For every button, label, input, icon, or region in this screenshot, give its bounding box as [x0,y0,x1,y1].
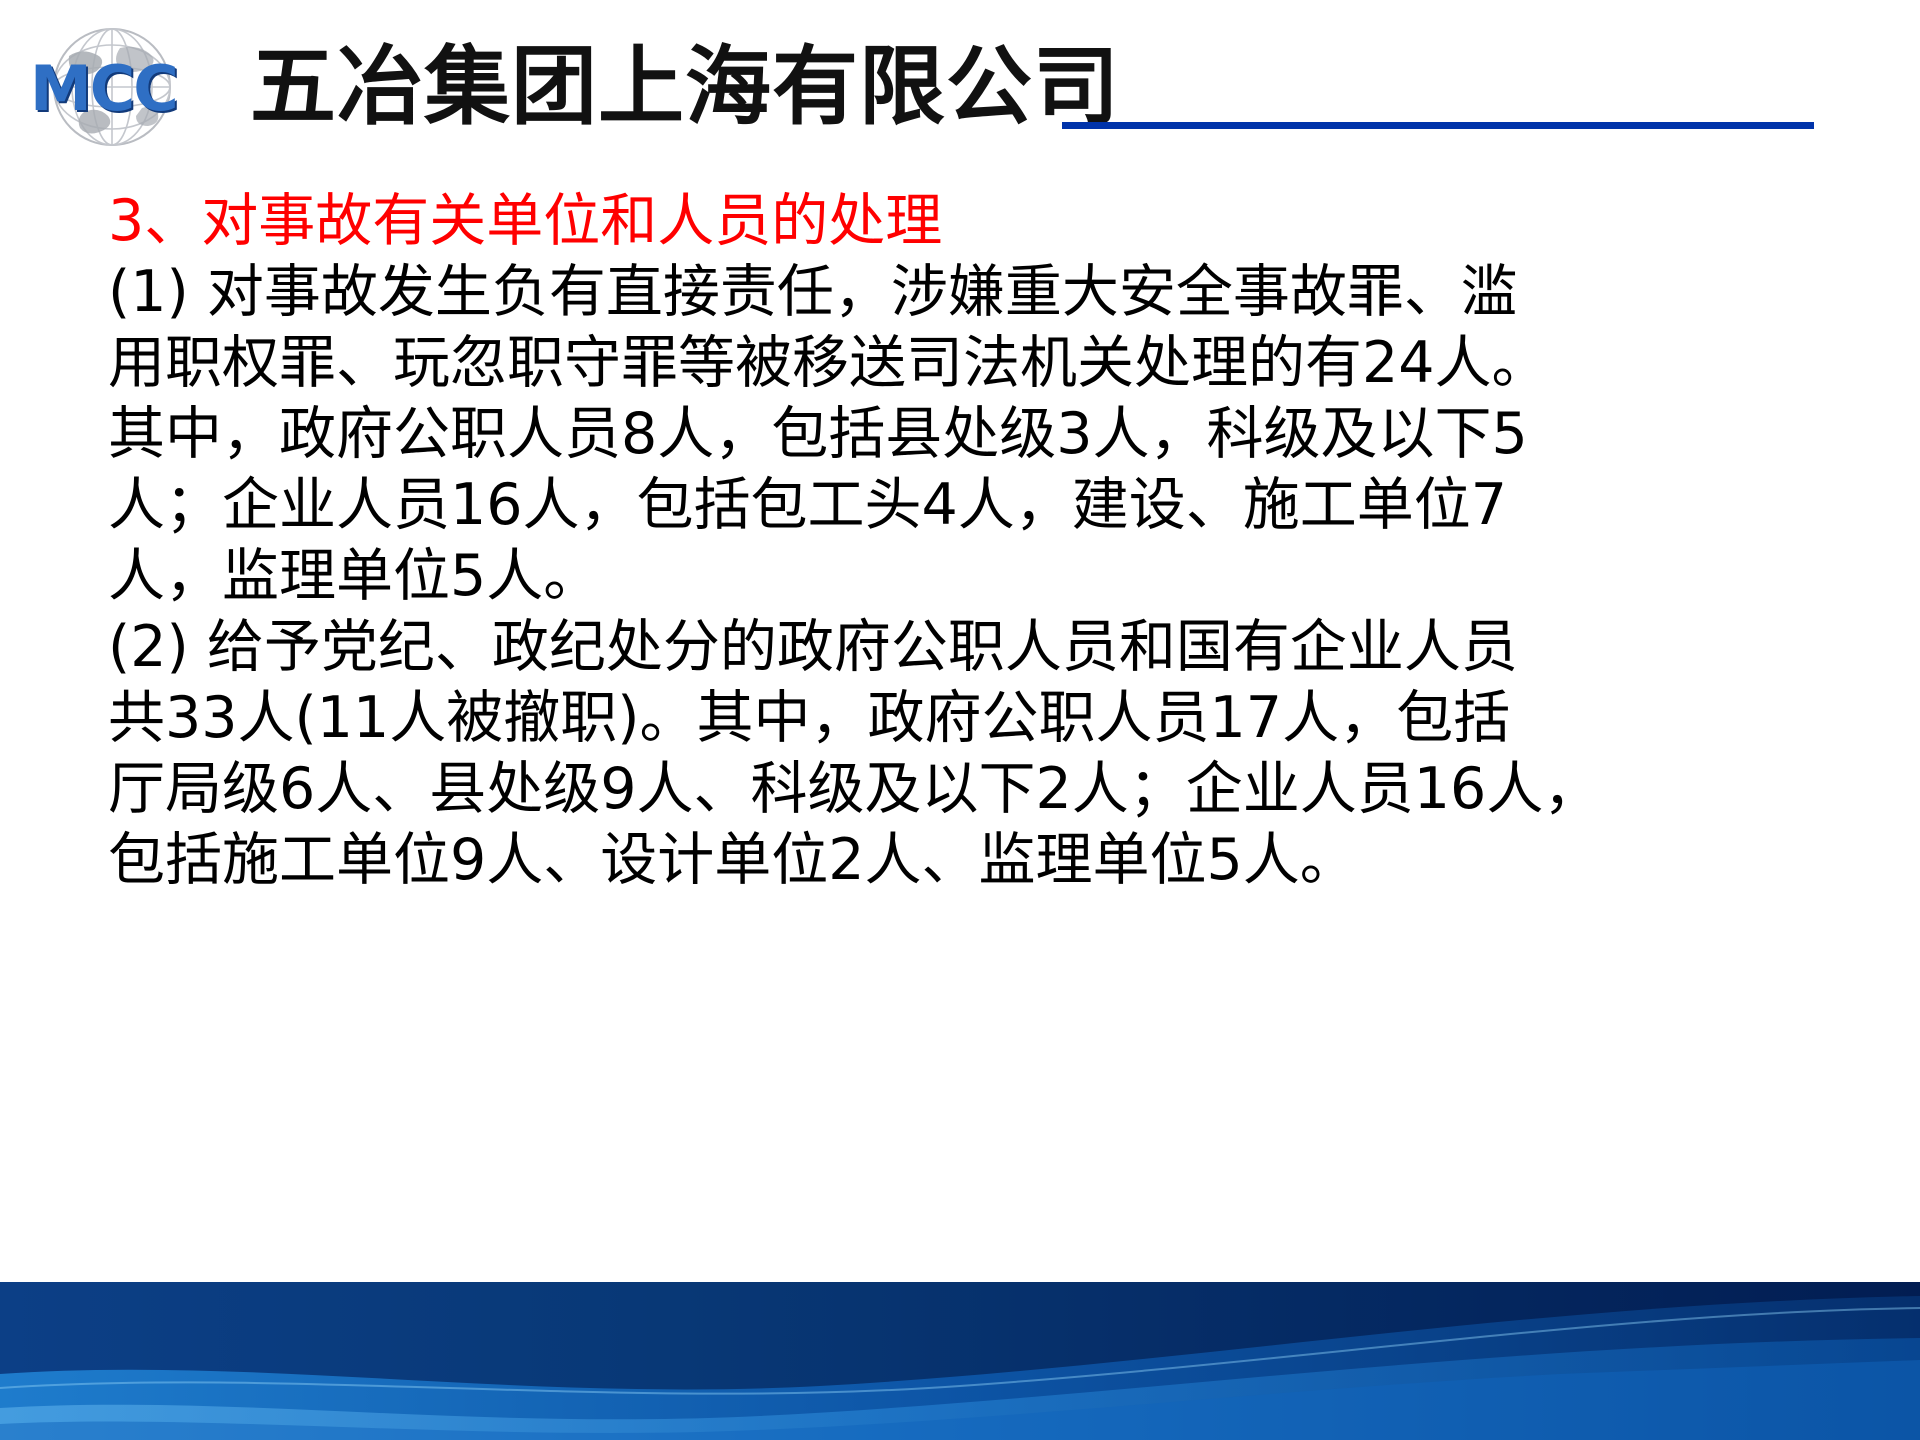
body-line: 人，监理单位5人。 [108,541,1748,612]
svg-text:MCC: MCC [30,52,177,125]
body-line: (2) 给予党纪、政纪处分的政府公职人员和国有企业人员 [108,612,1748,683]
slide-footer: 用心铸造世界 Shape The Word With Love [0,1282,1920,1440]
body-line: 人；企业人员16人，包括包工头4人，建设、施工单位7 [108,470,1748,541]
header-divider [1062,122,1814,129]
footer-banner-graphic [0,1282,1920,1440]
body-line: 共33人(11人被撤职)。其中，政府公职人员17人，包括 [108,683,1748,754]
globe-icon: MCC MCC [24,22,208,152]
body-line: 厅局级6人、县处级9人、科级及以下2人；企业人员16人， [108,754,1748,825]
company-name: 五冶集团上海有限公司 [250,40,1120,134]
body-line: (1) 对事故发生负有直接责任，涉嫌重大安全事故罪、滥 [108,257,1748,328]
slide-header: MCC MCC 五冶集团上海有限公司 [0,0,1920,172]
body-line: 包括施工单位9人、设计单位2人、监理单位5人。 [108,825,1748,896]
body-line: 用职权罪、玩忽职守罪等被移送司法机关处理的有24人。 [108,328,1748,399]
body-line: 其中，政府公职人员8人，包括县处级3人，科级及以下5 [108,399,1748,470]
section-heading: 3、对事故有关单位和人员的处理 [108,186,1748,257]
slide-content: 3、对事故有关单位和人员的处理 (1) 对事故发生负有直接责任，涉嫌重大安全事故… [108,186,1748,896]
mcc-logo: MCC MCC [24,22,208,152]
